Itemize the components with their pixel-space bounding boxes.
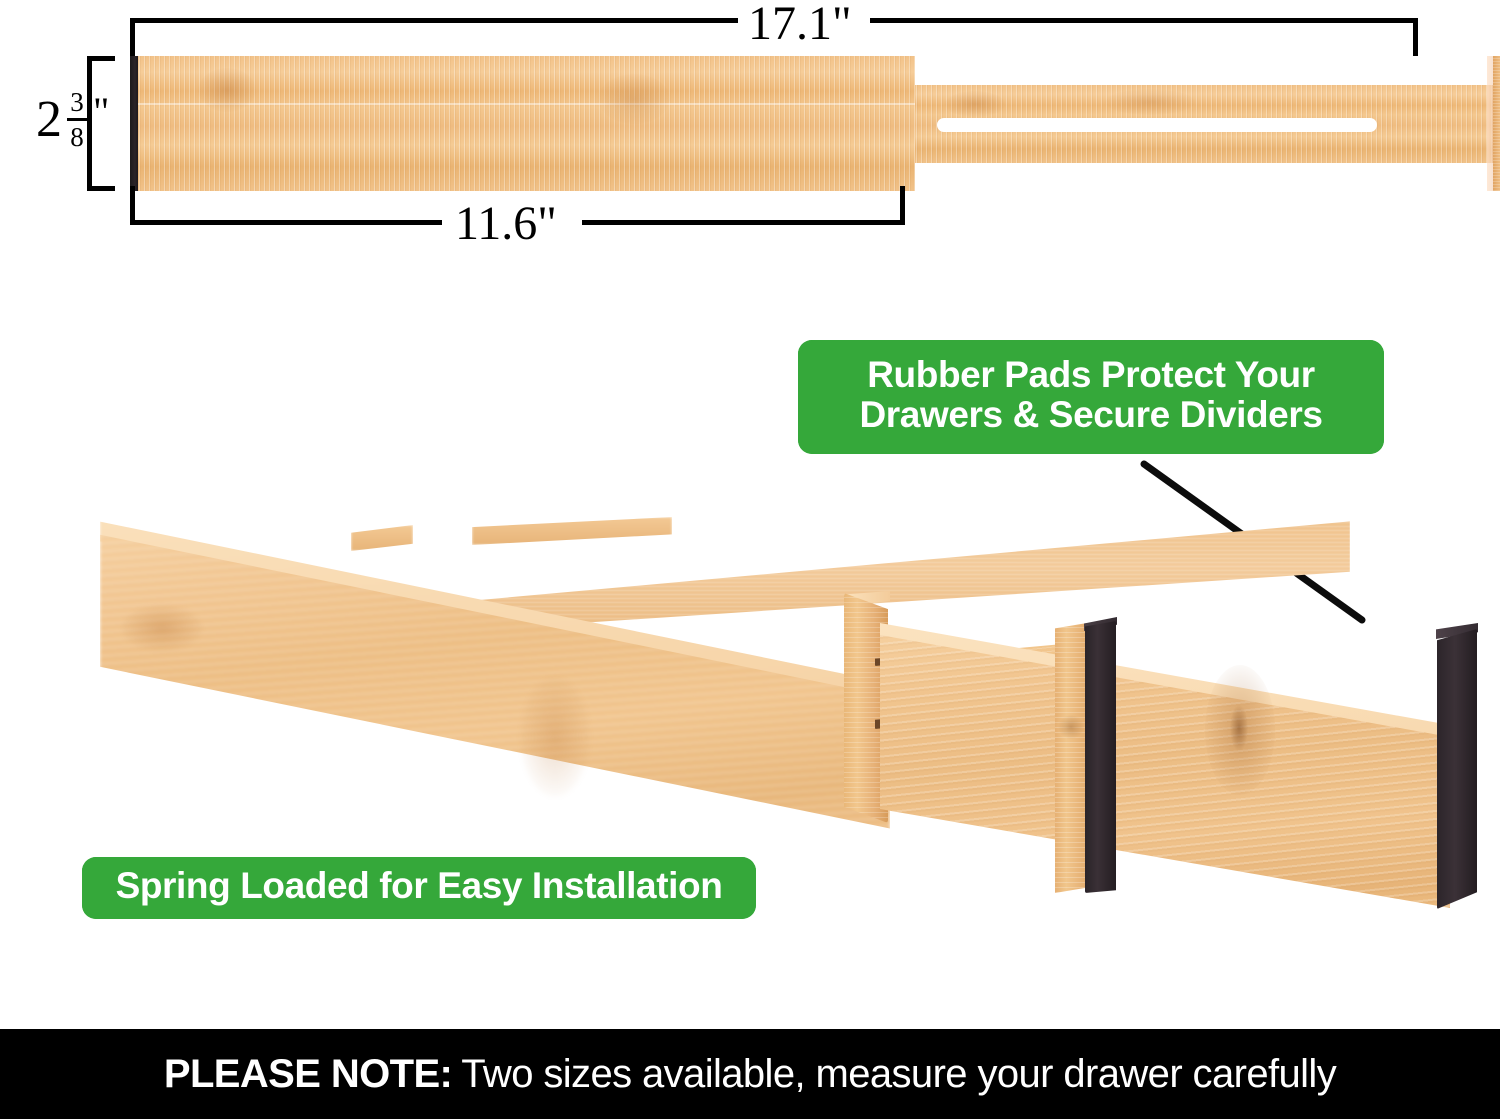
bamboo-node-mark <box>520 677 590 797</box>
please-note-body: Two sizes available, measure your drawer… <box>461 1052 1336 1097</box>
rubber-pad-mid-post <box>1085 621 1116 893</box>
divider-mid-post <box>1055 623 1087 893</box>
drawer-divider-top-view <box>130 56 1420 191</box>
height-tick-top <box>87 56 115 61</box>
callout-rubber-pads: Rubber Pads Protect Your Drawers & Secur… <box>798 340 1384 454</box>
callout-spring-loaded-text: Spring Loaded for Easy Installation <box>116 865 723 907</box>
rubber-pad-front-right <box>1437 629 1477 909</box>
bamboo-node-mark <box>1230 705 1248 751</box>
callout-spring-loaded: Spring Loaded for Easy Installation <box>82 857 756 919</box>
divider-front-board <box>880 623 1450 923</box>
height-fraction: 3 8 <box>67 88 87 152</box>
width-compressed-label: 11.6" <box>455 200 557 248</box>
width-extended-tick-right <box>1413 18 1418 56</box>
divider-top-tab <box>351 525 413 551</box>
divider-near-board <box>100 515 890 845</box>
bamboo-node-mark <box>598 74 670 124</box>
width-compressed-dimension-line-right <box>582 220 905 225</box>
divider-main-board <box>138 56 915 191</box>
width-compressed-dimension-line-left <box>130 220 442 225</box>
divider-sliding-arm <box>915 85 1495 163</box>
width-extended-label: 17.1" <box>748 0 852 48</box>
please-note-bar: PLEASE NOTE: Two sizes available, measur… <box>0 1029 1500 1119</box>
fraction-numerator: 3 <box>70 88 84 117</box>
bamboo-grain-line <box>138 103 915 105</box>
width-extended-tick-left <box>130 18 135 56</box>
product-infographic: 17.1" 11.6" <box>0 0 1500 1119</box>
spring-slot <box>937 118 1377 132</box>
height-whole-number: 2 <box>36 94 62 146</box>
width-extended-dimension-line-right <box>870 18 1418 23</box>
fraction-denominator: 8 <box>70 122 84 151</box>
divider-end-post-right <box>1493 56 1500 191</box>
callout-rubber-pads-line-2: Drawers & Secure Dividers <box>859 395 1322 435</box>
bamboo-node-mark <box>1105 89 1195 115</box>
please-note-prefix: PLEASE NOTE: <box>164 1052 452 1097</box>
bamboo-node-mark <box>122 605 202 651</box>
width-extended-dimension-line-left <box>130 18 738 23</box>
divider-top-tab <box>472 517 672 545</box>
height-unit-mark: " <box>93 92 109 132</box>
bamboo-node-mark <box>1058 715 1084 739</box>
width-compressed-tick-left <box>130 186 135 225</box>
fraction-bar <box>67 118 87 121</box>
height-tick-bottom <box>87 186 115 191</box>
bamboo-node-mark <box>198 68 256 112</box>
bamboo-node-mark <box>945 91 1005 117</box>
width-compressed-tick-right <box>900 186 905 225</box>
callout-rubber-pads-line-1: Rubber Pads Protect Your <box>859 355 1322 395</box>
height-label: 2 3 8 " <box>36 88 109 152</box>
